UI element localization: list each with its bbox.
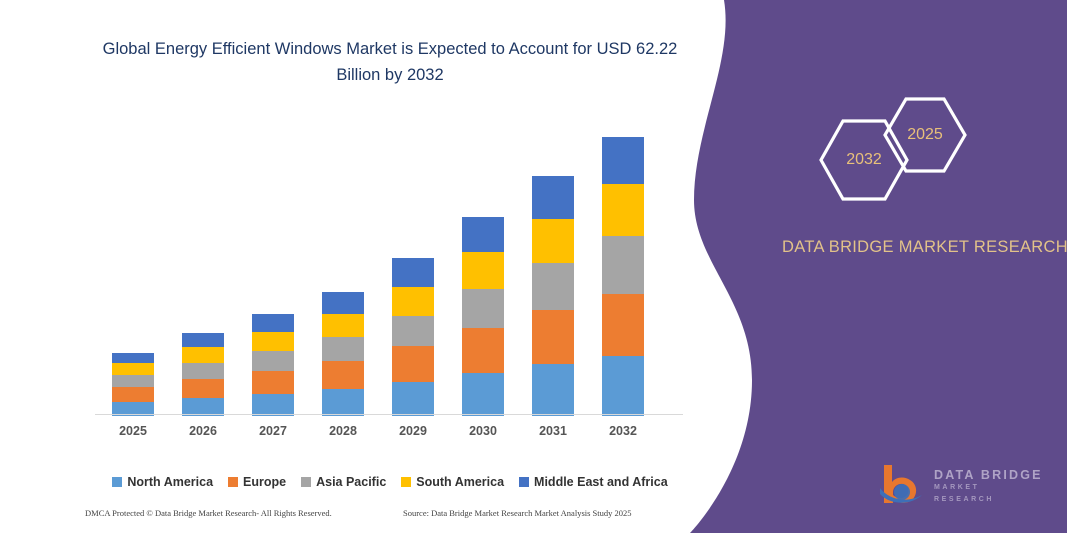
stacked-bar[interactable] — [532, 176, 574, 416]
footer-source: Source: Data Bridge Market Research Mark… — [403, 508, 632, 518]
bar-segment — [602, 236, 644, 294]
legend-item[interactable]: Asia Pacific — [301, 475, 386, 489]
bar-segment — [322, 314, 364, 337]
stacked-bar[interactable] — [462, 217, 504, 416]
brand-name-text: DATA BRIDGE MARKET RESEARCH — [782, 238, 1067, 256]
bar-segment — [322, 337, 364, 361]
stacked-bar[interactable] — [602, 137, 644, 416]
x-axis-tick-2031: 2031 — [518, 424, 588, 438]
bar-segment — [112, 353, 154, 363]
chart-legend: North AmericaEuropeAsia PacificSouth Ame… — [95, 472, 685, 492]
legend-swatch-icon — [301, 477, 311, 487]
bar-column-2030 — [448, 110, 518, 416]
bar-segment — [182, 379, 224, 398]
hexagon-badges: 2032 2025 — [810, 96, 1000, 206]
legend-item[interactable]: Europe — [228, 475, 286, 489]
legend-label: Asia Pacific — [316, 475, 386, 489]
stacked-bar[interactable] — [112, 353, 154, 416]
bar-segment — [392, 382, 434, 416]
infographic-root: Global Energy Efficient Windows Market, … — [0, 0, 1067, 533]
bar-segment — [532, 176, 574, 219]
hexagon-start-year-label: 2025 — [882, 96, 968, 174]
legend-swatch-icon — [519, 477, 529, 487]
chart-title: Global Energy Efficient Windows Market i… — [95, 36, 685, 88]
bar-segment — [392, 316, 434, 346]
x-axis-tick-2027: 2027 — [238, 424, 308, 438]
bar-segment — [112, 387, 154, 402]
legend-swatch-icon — [112, 477, 122, 487]
bar-column-2028 — [308, 110, 378, 416]
bar-segment — [532, 263, 574, 310]
bar-segment — [252, 371, 294, 394]
legend-label: Middle East and Africa — [534, 475, 668, 489]
bar-segment — [462, 217, 504, 252]
bar-segment — [182, 363, 224, 379]
bar-column-2031 — [518, 110, 588, 416]
bar-segment — [602, 294, 644, 356]
legend-label: South America — [416, 475, 504, 489]
bar-segment — [252, 351, 294, 371]
logo-text-line1: DATA BRIDGE — [934, 468, 1044, 482]
hexagon-start-year: 2025 — [882, 96, 968, 174]
bar-segment — [252, 394, 294, 416]
footer-copyright: DMCA Protected © Data Bridge Market Rese… — [85, 508, 332, 518]
bar-segment — [462, 252, 504, 289]
legend-swatch-icon — [401, 477, 411, 487]
bar-segment — [532, 364, 574, 416]
bar-segment — [252, 314, 294, 332]
bar-column-2026 — [168, 110, 238, 416]
chart-x-axis: 20252026202720282029203020312032 — [95, 424, 685, 446]
footer: DMCA Protected © Data Bridge Market Rese… — [85, 508, 685, 524]
bar-segment — [602, 137, 644, 184]
legend-item[interactable]: Middle East and Africa — [519, 475, 668, 489]
x-axis-tick-2029: 2029 — [378, 424, 448, 438]
right-brand-panel — [690, 0, 1067, 533]
x-axis-tick-2032: 2032 — [588, 424, 658, 438]
x-axis-tick-2030: 2030 — [448, 424, 518, 438]
stacked-bar[interactable] — [252, 314, 294, 416]
bar-segment — [392, 258, 434, 287]
bar-segment — [182, 333, 224, 347]
bar-segment — [462, 289, 504, 328]
bar-segment — [112, 375, 154, 387]
bar-column-2029 — [378, 110, 448, 416]
x-axis-tick-2025: 2025 — [98, 424, 168, 438]
panel-background-shape — [690, 0, 1067, 533]
bar-segment — [532, 310, 574, 364]
chart-axis-line — [95, 414, 683, 415]
bar-segment — [462, 373, 504, 416]
bar-column-2027 — [238, 110, 308, 416]
legend-label: North America — [127, 475, 213, 489]
logo-mark-icon — [878, 462, 930, 506]
legend-label: Europe — [243, 475, 286, 489]
logo-text-line2: MARKET RESEARCH — [934, 482, 1044, 506]
bar-segment — [462, 328, 504, 373]
bar-segment — [532, 219, 574, 263]
bar-segment — [322, 361, 364, 389]
bar-segment — [182, 347, 224, 363]
x-axis-tick-2028: 2028 — [308, 424, 378, 438]
stacked-bar[interactable] — [322, 292, 364, 416]
bar-segment — [392, 346, 434, 382]
bar-column-2025 — [98, 110, 168, 416]
stacked-bar[interactable] — [392, 258, 434, 416]
bar-column-2032 — [588, 110, 658, 416]
bar-segment — [252, 332, 294, 351]
logo-text: DATA BRIDGE MARKET RESEARCH — [934, 468, 1044, 506]
bar-segment — [602, 356, 644, 416]
legend-swatch-icon — [228, 477, 238, 487]
chart-plot-area — [95, 110, 685, 416]
bar-segment — [322, 389, 364, 416]
data-bridge-logo: DATA BRIDGE MARKET RESEARCH — [878, 462, 1043, 508]
stacked-bar[interactable] — [182, 333, 224, 416]
legend-item[interactable]: North America — [112, 475, 213, 489]
x-axis-tick-2026: 2026 — [168, 424, 238, 438]
bar-segment — [602, 184, 644, 236]
bar-segment — [322, 292, 364, 314]
bar-segment — [112, 363, 154, 375]
bar-segment — [392, 287, 434, 316]
legend-item[interactable]: South America — [401, 475, 504, 489]
brand-name: DATA BRIDGE MARKET RESEARCH — [760, 234, 1067, 260]
